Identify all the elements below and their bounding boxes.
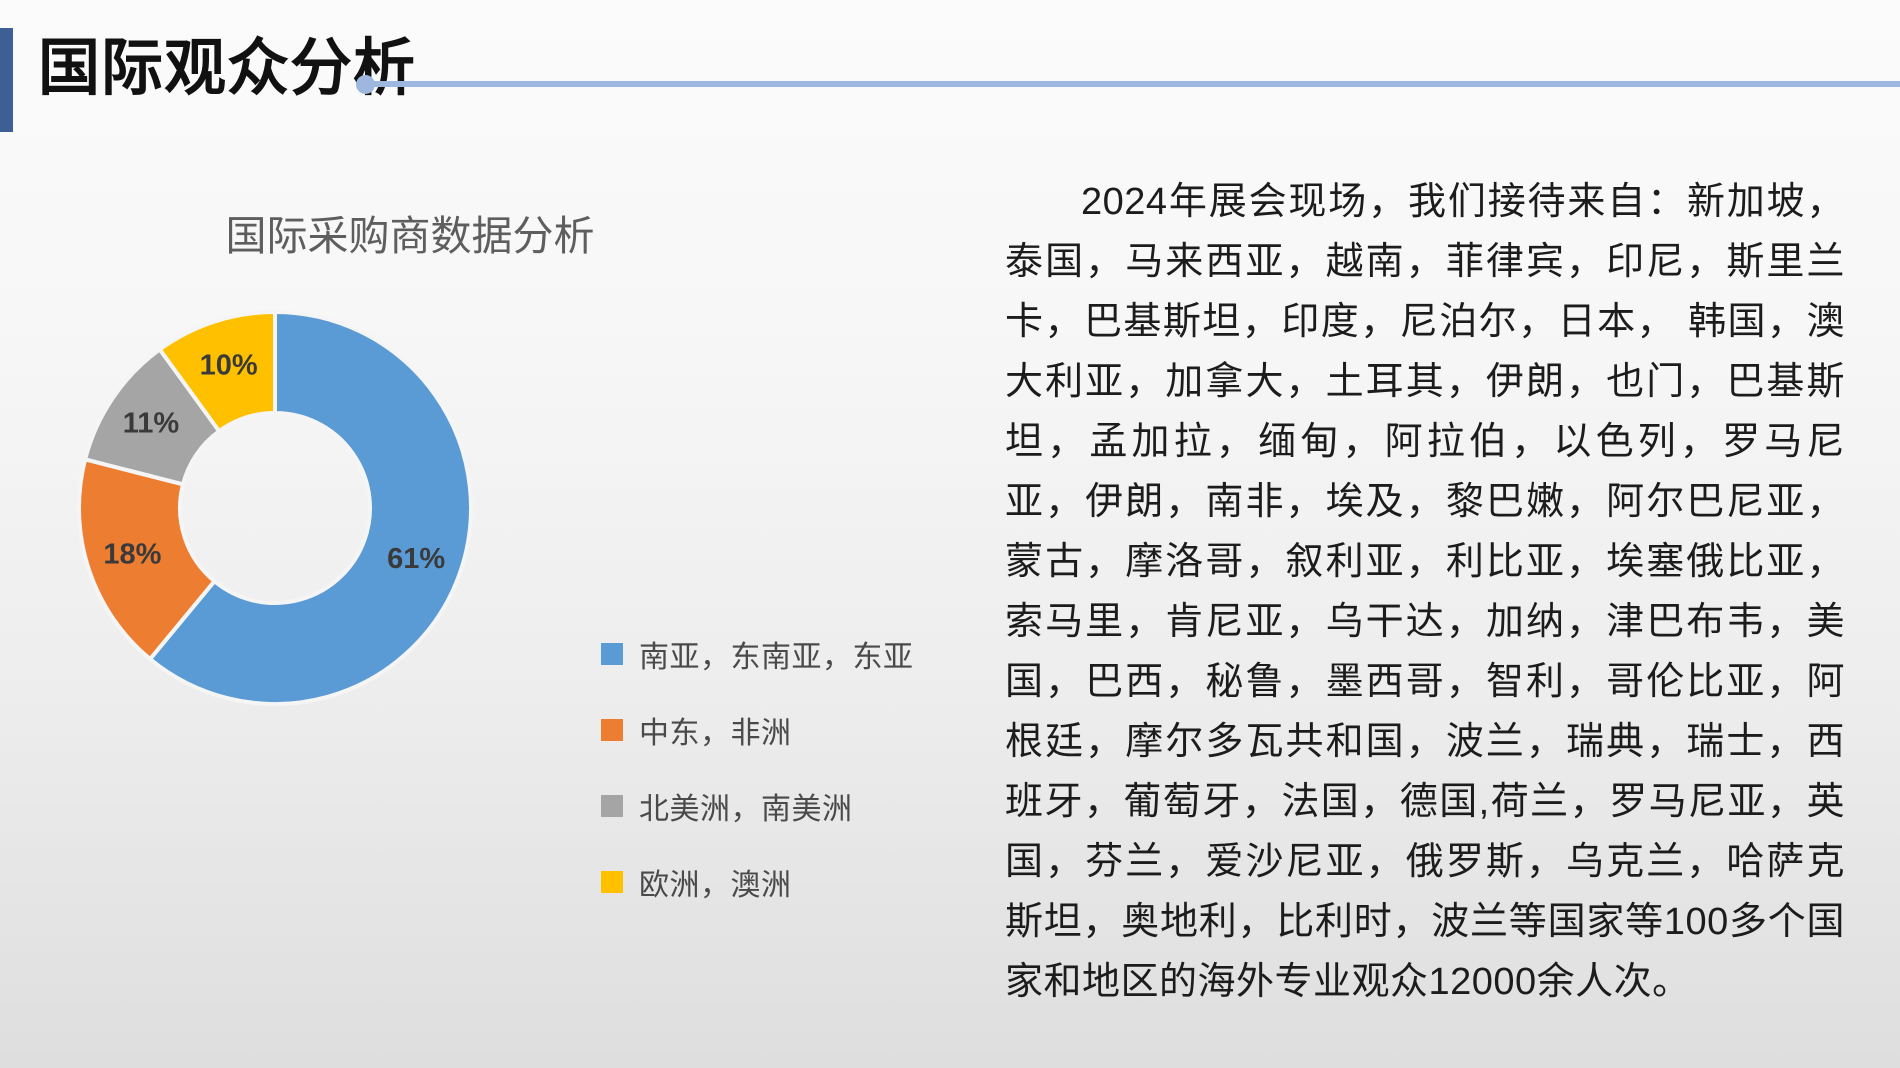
legend-swatch-icon [601,871,623,893]
title-decoration [356,72,1900,96]
legend-item[interactable]: 北美洲，南美洲 [601,768,931,844]
legend-swatch-icon [601,643,623,665]
donut-chart: 61%18%11%10% [55,288,495,728]
legend-item-label: 中东，非洲 [639,708,792,752]
legend-item[interactable]: 南亚，东南亚，东亚 [601,616,931,692]
legend-item-label: 欧洲，澳洲 [639,860,792,904]
legend-swatch-icon [601,719,623,741]
donut-slice-label: 10% [200,349,258,381]
decoration-line [372,81,1900,87]
donut-chart-svg: 61%18%11%10% [55,288,495,728]
donut-slice-label: 61% [387,543,445,575]
slide-canvas: 国际观众分析 国际采购商数据分析 61%18%11%10% 南亚，东南亚，东亚 … [0,0,1900,1068]
chart-title: 国际采购商数据分析 [0,202,820,262]
donut-slices [79,312,471,704]
chart-legend: 南亚，东南亚，东亚 中东，非洲 北美洲，南美洲 欧洲，澳洲 [601,616,931,920]
donut-slice-label: 18% [103,538,161,570]
donut-slice-label: 11% [123,408,180,440]
donut-chart-block: 国际采购商数据分析 61%18%11%10% 南亚，东南亚，东亚 中东，非洲 北… [0,180,960,880]
title-accent-bar [0,28,13,132]
legend-item[interactable]: 中东，非洲 [601,692,931,768]
legend-item-label: 北美洲，南美洲 [639,784,853,828]
legend-swatch-icon [601,795,623,817]
body-paragraph: 2024年展会现场，我们接待来自：新加坡，泰国，马来西亚，越南，菲律宾，印尼，斯… [1005,172,1845,1012]
legend-item-label: 南亚，东南亚，东亚 [639,632,914,676]
legend-item[interactable]: 欧洲，澳洲 [601,844,931,920]
